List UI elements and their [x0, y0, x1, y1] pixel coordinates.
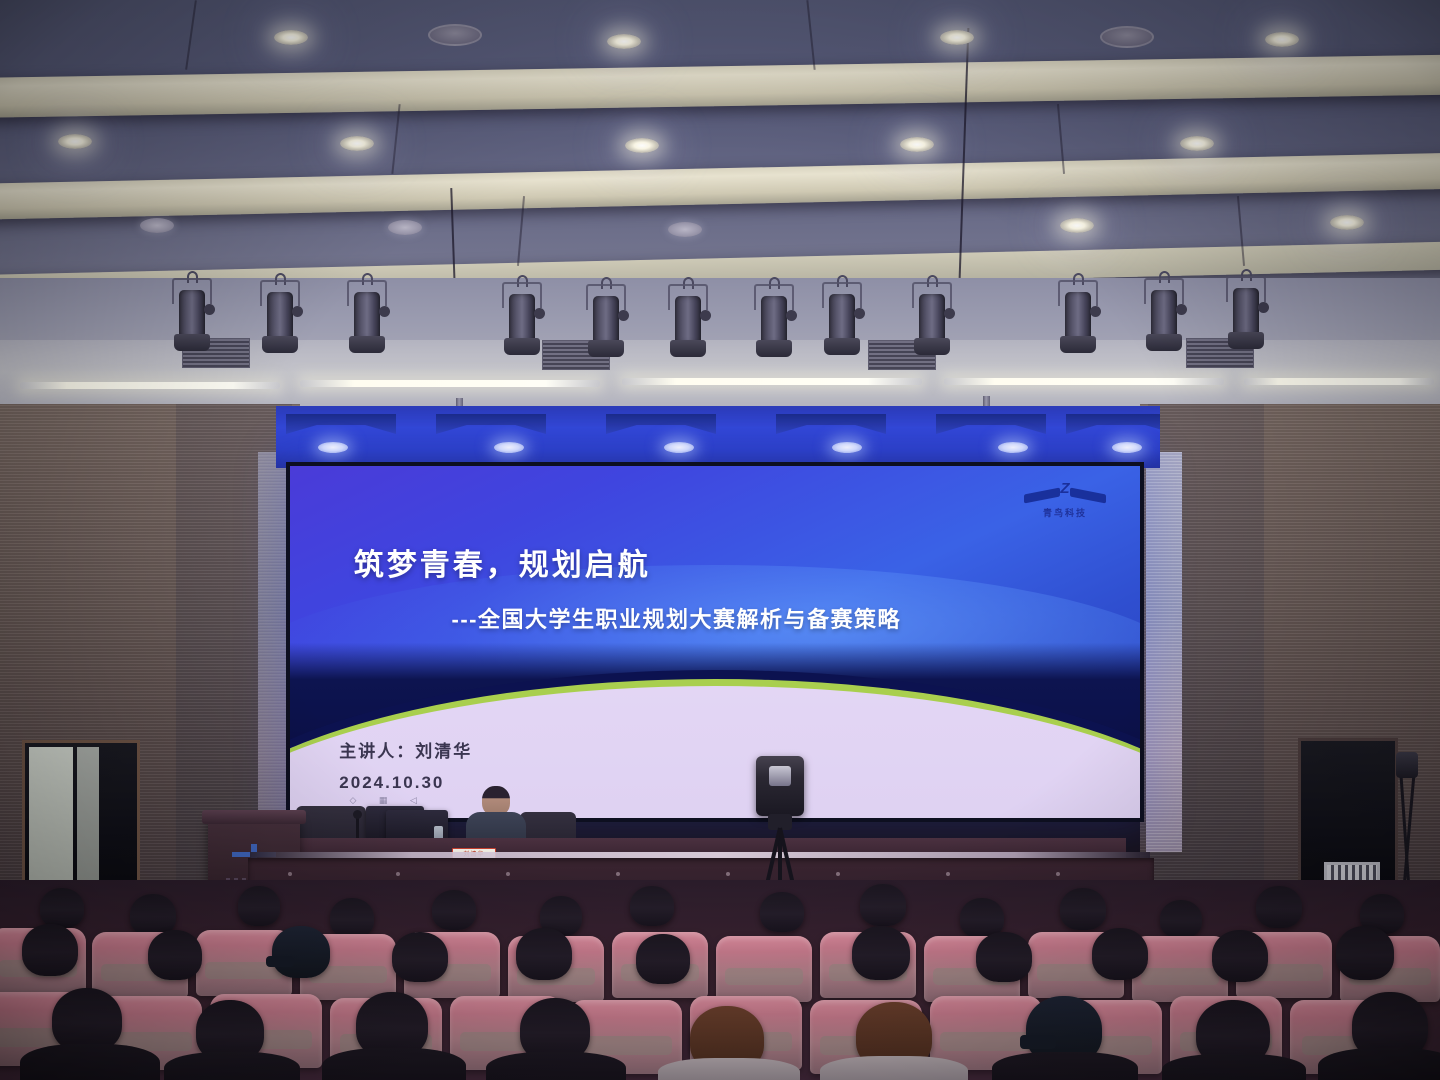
audience-shoulders	[1162, 1054, 1306, 1080]
audience-head	[22, 924, 78, 976]
audience-head	[630, 886, 674, 926]
stage-spotlight	[1142, 278, 1186, 356]
stage-bolt	[396, 872, 400, 876]
spotlight-arm	[379, 306, 390, 317]
spotlight-body	[179, 290, 205, 338]
podium-top	[202, 810, 306, 824]
spotlight-lens	[1060, 336, 1096, 353]
screen-soffit	[276, 406, 1160, 468]
audience-head	[1092, 928, 1148, 980]
video-camera-icon	[756, 756, 804, 816]
auditorium-seat	[716, 936, 812, 1002]
spotlight-arm	[292, 306, 303, 317]
spotlight-lens	[1146, 334, 1182, 351]
logo-wing-right-icon	[1070, 488, 1106, 504]
spotlight-arm	[786, 310, 797, 321]
audience-head	[976, 932, 1032, 982]
soffit-lamp	[998, 442, 1028, 453]
spotlight-arm	[944, 308, 955, 319]
stage-spotlight	[258, 280, 302, 358]
stage-spotlight	[820, 282, 864, 360]
audience-head	[330, 898, 374, 938]
audience-head	[1060, 888, 1106, 930]
slide-footer-icons: ◇ ▦ ◁	[350, 795, 427, 806]
audience-head	[392, 932, 448, 982]
logo-text: 青鸟科技	[1018, 506, 1112, 519]
audience-head	[1160, 900, 1202, 938]
left-doorway[interactable]	[22, 740, 140, 892]
ceiling-downlight	[607, 34, 641, 49]
soffit-lamp	[1112, 442, 1142, 453]
spotlight-arm	[1090, 306, 1101, 317]
spotlight-lens	[174, 334, 210, 351]
spotlight-lens	[824, 338, 860, 355]
strip-light	[622, 378, 922, 385]
ceiling-downlight	[1265, 32, 1299, 47]
spotlight-lens	[262, 336, 298, 353]
ceiling-beam	[0, 54, 1440, 118]
spotlight-lens	[588, 340, 624, 357]
ceiling-downlight	[625, 138, 659, 153]
spotlight-body	[675, 296, 701, 344]
audience-head	[852, 926, 910, 980]
audience-head	[860, 884, 906, 926]
spotlight-arm	[618, 310, 629, 321]
ceiling-downlight	[1180, 136, 1214, 151]
spotlight-arm	[1258, 302, 1269, 313]
stage-spotlight	[500, 282, 544, 360]
spotlight-lens	[504, 338, 540, 355]
audience-shoulders	[164, 1052, 300, 1080]
ceiling-air-vent	[428, 24, 482, 46]
stage-bolt	[506, 872, 510, 876]
spotlight-lens	[914, 338, 950, 355]
ceiling-downlight	[58, 134, 92, 149]
spotlight-lens	[1228, 332, 1264, 349]
ceiling-beam	[0, 152, 1440, 220]
ceiling-downlight	[940, 30, 974, 45]
ceiling-downlight	[388, 220, 422, 235]
soffit-lamp	[494, 442, 524, 453]
strip-light	[944, 378, 1224, 385]
audience-head	[1256, 886, 1302, 928]
audience-head	[148, 930, 202, 980]
audience-head	[432, 890, 476, 930]
audience-shoulders	[322, 1048, 466, 1080]
spotlight-body	[1233, 288, 1259, 336]
soffit-panel	[936, 414, 1046, 434]
soffit-panel	[776, 414, 886, 434]
spotlight-body	[593, 296, 619, 344]
stage-spotlight	[584, 284, 628, 362]
spotlight-arm	[204, 304, 215, 315]
audience-shoulders	[486, 1052, 626, 1080]
ceiling	[0, 0, 1440, 300]
audience-shoulders	[1318, 1048, 1440, 1080]
soffit-panel	[286, 414, 396, 434]
spotlight-arm	[854, 308, 865, 319]
rear-camera-body	[1396, 752, 1418, 778]
soffit-panel	[1066, 414, 1160, 434]
logo-letter: Z	[1060, 480, 1069, 497]
soffit-lamp	[832, 442, 862, 453]
ceiling-downlight	[900, 137, 934, 152]
ceiling-downlight	[668, 222, 702, 237]
wall-reflective-strip	[1146, 452, 1182, 852]
audience-shoulders	[992, 1052, 1138, 1080]
soffit-lamp	[664, 442, 694, 453]
audience-head	[636, 934, 690, 984]
ceiling-downlight	[274, 30, 308, 45]
slide-presenter: 主讲人：刘清华	[339, 737, 472, 762]
ceiling-downlight	[1330, 215, 1364, 230]
slide-date: 2024.10.30	[339, 773, 444, 793]
stage-spotlight	[752, 284, 796, 362]
presentation-slide: Z 青鸟科技 筑梦青春，规划启航 ---全国大学生职业规划大赛解析与备赛策略 主…	[290, 466, 1140, 818]
slide-title: 筑梦青春，规划启航	[354, 540, 651, 584]
spotlight-body	[267, 292, 293, 340]
stage-bolt	[836, 872, 840, 876]
soffit-panel	[606, 414, 716, 434]
ceiling-air-vent	[1100, 26, 1154, 48]
stage-bolt	[288, 872, 292, 876]
audience-seating	[0, 880, 1440, 1080]
ceiling-seam	[185, 0, 197, 70]
spotlight-lens	[349, 336, 385, 353]
soffit-panel	[436, 414, 546, 434]
ceiling-downlight	[140, 218, 174, 233]
spotlight-body	[509, 294, 535, 342]
audience-head	[238, 886, 280, 926]
audience-head	[1212, 930, 1268, 982]
audience-head	[760, 892, 804, 932]
ceiling-downlight	[1060, 218, 1094, 233]
stage-spotlight	[1224, 276, 1268, 354]
stage-bolt	[726, 872, 730, 876]
spotlight-arm	[700, 310, 711, 321]
spotlight-body	[354, 292, 380, 340]
audience-head	[516, 928, 572, 980]
microphone-head	[353, 810, 362, 819]
door-leaf[interactable]	[77, 747, 99, 891]
auditorium-photo: Z 青鸟科技 筑梦青春，规划启航 ---全国大学生职业规划大赛解析与备赛策略 主…	[0, 0, 1440, 1080]
stage-spotlight	[1056, 280, 1100, 358]
ceiling-seam	[806, 0, 815, 70]
spotlight-arm	[1176, 304, 1187, 315]
audience-shoulders	[658, 1058, 800, 1080]
company-logo: Z 青鸟科技	[1018, 482, 1112, 526]
strip-light	[1244, 378, 1434, 385]
stage-spotlight	[170, 278, 214, 356]
slide-subtitle: ---全国大学生职业规划大赛解析与备赛策略	[452, 602, 901, 634]
stage-bolt	[946, 872, 950, 876]
strip-light	[300, 380, 600, 387]
stage-spotlight	[345, 280, 389, 358]
spotlight-body	[829, 294, 855, 342]
ceiling-seam	[391, 104, 400, 174]
spotlight-arm	[534, 308, 545, 319]
stage-bolt	[1056, 872, 1060, 876]
ceiling-downlight	[340, 136, 374, 151]
spotlight-body	[761, 296, 787, 344]
audience-head	[1336, 926, 1394, 980]
audience-head	[40, 888, 84, 928]
spotlight-lens	[670, 340, 706, 357]
spotlight-body	[919, 294, 945, 342]
audience-head-with-cap	[272, 926, 330, 978]
strip-light	[20, 382, 280, 389]
spotlight-lens	[756, 340, 792, 357]
audience-shoulders	[20, 1044, 160, 1080]
led-screen[interactable]: Z 青鸟科技 筑梦青春，规划启航 ---全国大学生职业规划大赛解析与备赛策略 主…	[286, 462, 1144, 822]
stage-spotlight	[666, 284, 710, 362]
audience-shoulders	[820, 1056, 968, 1080]
logo-wing-left-icon	[1024, 488, 1060, 504]
door-leaf[interactable]	[29, 747, 73, 891]
stage-bolt	[616, 872, 620, 876]
audience-head	[52, 988, 122, 1052]
spotlight-body	[1151, 290, 1177, 338]
logo-mark: Z	[1018, 482, 1112, 504]
soffit-lamp	[318, 442, 348, 453]
stage-spotlight	[910, 282, 954, 360]
spotlight-body	[1065, 292, 1091, 340]
